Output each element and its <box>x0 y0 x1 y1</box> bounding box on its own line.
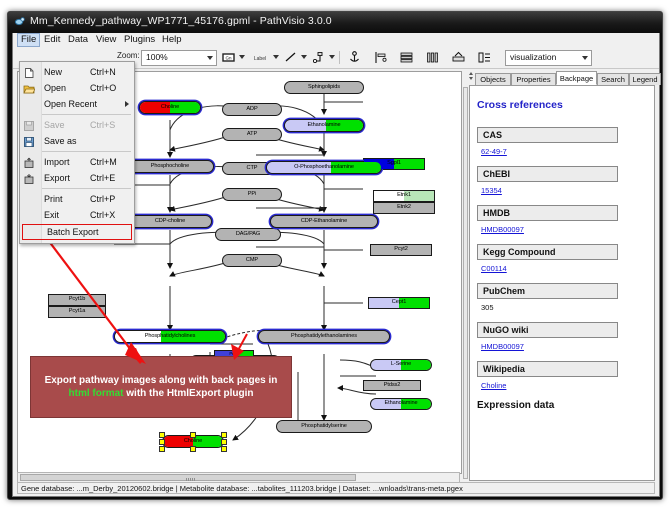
line-dropdown-arrow[interactable] <box>301 55 307 59</box>
label-dropdown-arrow[interactable] <box>273 55 279 59</box>
xref-source-label: Wikipedia <box>477 361 618 377</box>
distribute-icon[interactable] <box>425 50 440 65</box>
menu-item-save-as[interactable]: Save as <box>20 133 134 149</box>
datanode-icon[interactable]: Gn <box>221 50 236 65</box>
menu-item-new[interactable]: New Ctrl+N <box>20 64 134 80</box>
xref-entry-kegg-compound: Kegg Compound C00114 <box>477 244 647 273</box>
xref-value-link[interactable]: Choline <box>481 381 647 390</box>
zoom-value: 100% <box>146 52 168 62</box>
menu-item-open[interactable]: Open Ctrl+O <box>20 80 134 96</box>
xref-source-label: NuGO wiki <box>477 322 618 338</box>
visualization-combobox[interactable]: visualization <box>505 50 592 66</box>
menu-help[interactable]: Help <box>159 34 185 46</box>
backpage-content: Cross references CAS 62-49-7 ChEBI 15354… <box>477 86 647 411</box>
interaction-icon[interactable] <box>311 50 326 65</box>
svg-text:Gn: Gn <box>225 56 232 61</box>
xref-entry-wikipedia: Wikipedia Choline <box>477 361 647 390</box>
side-panel-resizer[interactable] <box>463 87 468 479</box>
title-bar: Mm_Kennedy_pathway_WP1771_45176.gpml - P… <box>8 12 662 33</box>
xref-value-link[interactable]: C00114 <box>481 264 647 273</box>
label-icon[interactable]: Label <box>249 50 271 65</box>
open-folder-icon <box>23 82 35 94</box>
application-window: Mm_Kennedy_pathway_WP1771_45176.gpml - P… <box>7 11 663 500</box>
menu-bar: File Edit Data View Plugins Help <box>13 33 659 48</box>
scrollbar-thumb[interactable] <box>20 474 356 481</box>
menu-item-label: Print <box>44 194 63 204</box>
menu-item-import[interactable]: Import Ctrl+M <box>20 154 134 170</box>
import-icon <box>23 156 35 168</box>
side-panel: Objects Properties Backpage Search Legen… <box>463 71 655 483</box>
backpage-panel: Cross references CAS 62-49-7 ChEBI 15354… <box>469 85 655 481</box>
menu-item-exit[interactable]: Exit Ctrl+X <box>20 207 134 223</box>
menu-file[interactable]: File <box>17 33 40 47</box>
menu-item-accel: Ctrl+P <box>90 194 115 204</box>
window-title: Mm_Kennedy_pathway_WP1771_45176.gpml - P… <box>30 15 332 27</box>
chevron-down-icon <box>207 56 213 60</box>
xref-source-label: CAS <box>477 127 618 143</box>
new-file-icon <box>23 66 35 78</box>
tab-legend[interactable]: Legend <box>629 73 661 85</box>
toolbar-separator <box>339 51 340 64</box>
xref-value-link[interactable]: 62-49-7 <box>481 147 647 156</box>
menu-plugins[interactable]: Plugins <box>121 34 158 46</box>
xref-value-link[interactable]: HMDB00097 <box>481 342 647 351</box>
save-icon <box>23 119 35 131</box>
xref-value-link[interactable]: HMDB00097 <box>481 225 647 234</box>
menu-item-print[interactable]: Print Ctrl+P <box>20 191 134 207</box>
expression-data-heading: Expression data <box>477 400 647 411</box>
group-icon[interactable] <box>477 50 492 65</box>
scrollbar-grip <box>186 478 196 481</box>
cross-references-heading: Cross references <box>477 99 647 111</box>
xref-entry-cas: CAS 62-49-7 <box>477 127 647 156</box>
menu-item-label: Export <box>44 173 70 183</box>
menu-item-accel: Ctrl+E <box>90 173 115 183</box>
xref-source-label: Kegg Compound <box>477 244 618 260</box>
menu-item-accel: Ctrl+M <box>90 157 117 167</box>
save-as-icon <box>23 135 35 147</box>
menu-view[interactable]: View <box>93 34 119 46</box>
xref-source-label: ChEBI <box>477 166 618 182</box>
line-icon[interactable] <box>283 50 298 65</box>
side-panel-tabs: Objects Properties Backpage Search Legen… <box>469 71 655 85</box>
xref-entry-hmdb: HMDB HMDB00097 <box>477 205 647 234</box>
menu-item-accel: Ctrl+X <box>90 210 115 220</box>
status-bar: Gene database: ...m_Derby_20120602.bridg… <box>17 482 655 494</box>
tab-backpage[interactable]: Backpage <box>556 71 597 85</box>
chevron-down-icon-2 <box>582 56 588 60</box>
xref-source-label: HMDB <box>477 205 618 221</box>
menu-edit[interactable]: Edit <box>41 34 63 46</box>
menu-item-save: Save Ctrl+S <box>20 117 134 133</box>
menu-item-label: New <box>44 67 62 77</box>
zoom-label: Zoom: <box>117 51 140 60</box>
menu-item-label: Import <box>44 157 70 167</box>
menu-item-label: Save <box>44 120 65 130</box>
menu-item-batch-export[interactable]: Batch Export <box>22 224 132 240</box>
submenu-arrow-icon <box>125 101 129 107</box>
menu-item-label: Batch Export <box>47 227 99 237</box>
menu-data[interactable]: Data <box>65 34 91 46</box>
menu-item-open-recent[interactable]: Open Recent <box>20 96 134 112</box>
screenshot-root: Mm_Kennedy_pathway_WP1771_45176.gpml - P… <box>0 0 670 509</box>
xref-value-text: 305 <box>481 303 647 312</box>
svg-text:Label: Label <box>254 56 266 62</box>
datanode-dropdown-arrow[interactable] <box>239 55 245 59</box>
menu-item-label: Open Recent <box>44 99 97 109</box>
align-left-icon[interactable] <box>373 50 388 65</box>
interaction-dropdown-arrow[interactable] <box>329 55 335 59</box>
xref-value-link[interactable]: 15354 <box>481 186 647 195</box>
tab-objects[interactable]: Objects <box>475 73 511 85</box>
app-icon <box>14 16 26 28</box>
stack-icon[interactable] <box>399 50 414 65</box>
menu-item-label: Open <box>44 83 66 93</box>
menu-item-accel: Ctrl+S <box>90 120 115 130</box>
menu-item-accel: Ctrl+N <box>90 67 116 77</box>
menu-item-accel: Ctrl+O <box>90 83 116 93</box>
xref-source-label: PubChem <box>477 283 618 299</box>
xref-entry-pubchem: PubChem 305 <box>477 283 647 312</box>
xref-entry-chebi: ChEBI 15354 <box>477 166 647 195</box>
xref-entry-nugo-wiki: NuGO wiki HMDB00097 <box>477 322 647 351</box>
visualization-value: visualization <box>510 52 556 62</box>
app-body: File Edit Data View Plugins Help Zoom: 1… <box>12 33 660 497</box>
tab-scroll-icons[interactable] <box>469 72 474 83</box>
zoom-combobox[interactable]: 100% <box>141 50 217 66</box>
menu-item-export[interactable]: Export Ctrl+E <box>20 170 134 186</box>
status-text: Gene database: ...m_Derby_20120602.bridg… <box>21 484 463 493</box>
tab-properties[interactable]: Properties <box>511 73 556 85</box>
export-icon <box>23 172 35 184</box>
tab-search[interactable]: Search <box>597 73 629 85</box>
menu-item-label: Save as <box>44 136 77 146</box>
anchor-icon[interactable] <box>347 50 362 65</box>
menu-item-label: Exit <box>44 210 59 220</box>
order-icon[interactable] <box>451 50 466 65</box>
file-menu-dropdown: New Ctrl+N Open Ctrl+O Open Recent <box>19 61 135 244</box>
